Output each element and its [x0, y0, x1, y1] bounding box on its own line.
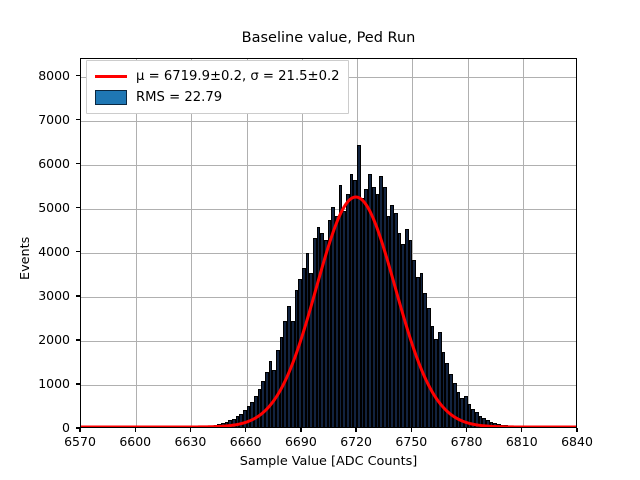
figure-canvas: Baseline value, Ped Run 6570660066306660… — [0, 0, 640, 480]
y-tick-mark — [76, 427, 80, 428]
x-tick-mark — [190, 428, 191, 432]
chart-title: Baseline value, Ped Run — [80, 30, 577, 46]
x-tick-mark — [466, 428, 467, 432]
y-tick-mark — [76, 119, 80, 120]
y-tick-label: 7000 — [8, 112, 70, 127]
x-tick-mark — [355, 428, 356, 432]
legend-patch-swatch-icon — [94, 90, 127, 105]
y-tick-label: 2000 — [8, 332, 70, 347]
x-axis-label: Sample Value [ADC Counts] — [80, 454, 577, 469]
chart-legend: μ = 6719.9±0.2, σ = 21.5±0.2 RMS = 22.79 — [86, 60, 349, 114]
legend-item-gaussian-fit: μ = 6719.9±0.2, σ = 21.5±0.2 — [94, 66, 340, 87]
x-tick-label: 6840 — [542, 434, 612, 449]
y-axis-label: Events — [18, 237, 33, 280]
x-tick-mark — [411, 428, 412, 432]
x-tick-mark — [576, 428, 577, 432]
y-tick-label: 1000 — [8, 376, 70, 391]
x-tick-mark — [245, 428, 246, 432]
gaussian-fit-curve — [81, 59, 576, 427]
y-tick-mark — [76, 163, 80, 164]
legend-item-histogram: RMS = 22.79 — [94, 87, 340, 108]
x-tick-mark — [300, 428, 301, 432]
y-tick-label: 0 — [8, 420, 70, 435]
y-tick-mark — [76, 251, 80, 252]
legend-label-rms: RMS = 22.79 — [136, 90, 222, 105]
legend-label-fit: μ = 6719.9±0.2, σ = 21.5±0.2 — [136, 69, 340, 84]
y-tick-mark — [76, 383, 80, 384]
x-tick-mark — [135, 428, 136, 432]
y-tick-label: 5000 — [8, 200, 70, 215]
legend-line-swatch-icon — [94, 75, 127, 78]
y-tick-mark — [76, 207, 80, 208]
y-tick-mark — [76, 295, 80, 296]
y-tick-mark — [76, 339, 80, 340]
x-tick-mark — [521, 428, 522, 432]
y-tick-label: 8000 — [8, 68, 70, 83]
y-tick-mark — [76, 75, 80, 76]
y-tick-label: 3000 — [8, 288, 70, 303]
y-tick-label: 6000 — [8, 156, 70, 171]
